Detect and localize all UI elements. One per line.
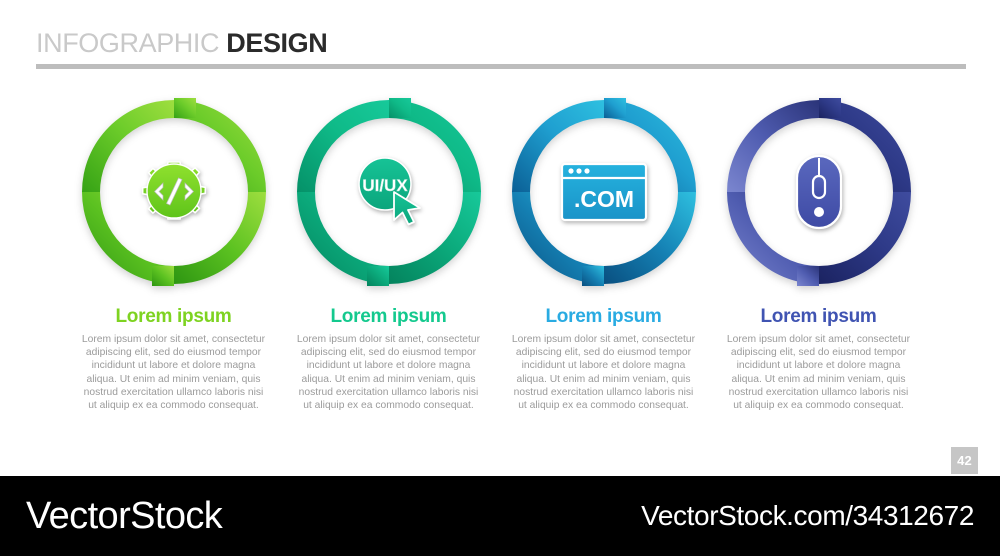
vectorstock-footer: VectorStock VectorStock.com/34312672 <box>0 476 1000 556</box>
infographic-card-4[interactable]: Lorem ipsum Lorem ipsum dolor sit amet, … <box>711 92 926 412</box>
card-3-ring-wrap: .COM <box>504 92 704 292</box>
page-title-bold: DESIGN <box>226 28 327 58</box>
uiux-cursor-icon: UI/UX <box>347 150 431 234</box>
infographic-card-3[interactable]: .COM Lorem ipsum Lorem ipsum dolor sit a… <box>496 92 711 412</box>
dot-com-label: .COM <box>573 186 633 212</box>
header-divider <box>36 64 966 69</box>
card-4-ring-wrap <box>719 92 919 292</box>
card-2-heading: Lorem ipsum <box>281 306 496 328</box>
card-3-body: Lorem ipsum dolor sit amet, consectetur … <box>512 333 696 412</box>
page-title-light: INFOGRAPHIC <box>36 28 219 58</box>
vectorstock-url: VectorStock.com/34312672 <box>641 500 974 532</box>
page-header: INFOGRAPHIC DESIGN <box>36 28 966 74</box>
card-4-icon-holder <box>719 92 919 292</box>
page-title: INFOGRAPHIC DESIGN <box>36 28 966 58</box>
card-1-icon-holder <box>74 92 274 292</box>
uiux-label: UI/UX <box>362 176 408 195</box>
vectorstock-logo: VectorStock <box>26 495 222 537</box>
card-2-ring-wrap: UI/UX <box>289 92 489 292</box>
card-3-heading: Lorem ipsum <box>496 306 711 328</box>
gear-code-icon <box>133 151 215 233</box>
infographic-card-1[interactable]: Lorem ipsum Lorem ipsum dolor sit amet, … <box>66 92 281 412</box>
watermark-badge: 42 <box>951 447 978 474</box>
card-1-ring-wrap <box>74 92 274 292</box>
computer-mouse-icon <box>791 150 847 234</box>
card-4-body: Lorem ipsum dolor sit amet, consectetur … <box>727 333 911 412</box>
card-2-body: Lorem ipsum dolor sit amet, consectetur … <box>297 333 481 412</box>
infographic-cards-row: Lorem ipsum Lorem ipsum dolor sit amet, … <box>0 92 1000 412</box>
card-1-body: Lorem ipsum dolor sit amet, consectetur … <box>82 333 266 412</box>
card-4-heading: Lorem ipsum <box>711 306 926 328</box>
card-1-heading: Lorem ipsum <box>66 306 281 328</box>
card-3-icon-holder: .COM <box>504 92 704 292</box>
card-2-icon-holder: UI/UX <box>289 92 489 292</box>
infographic-card-2[interactable]: UI/UX Lorem ipsum Lorem ipsum dolor sit … <box>281 92 496 412</box>
dot-com-browser-icon: .COM <box>558 159 650 225</box>
